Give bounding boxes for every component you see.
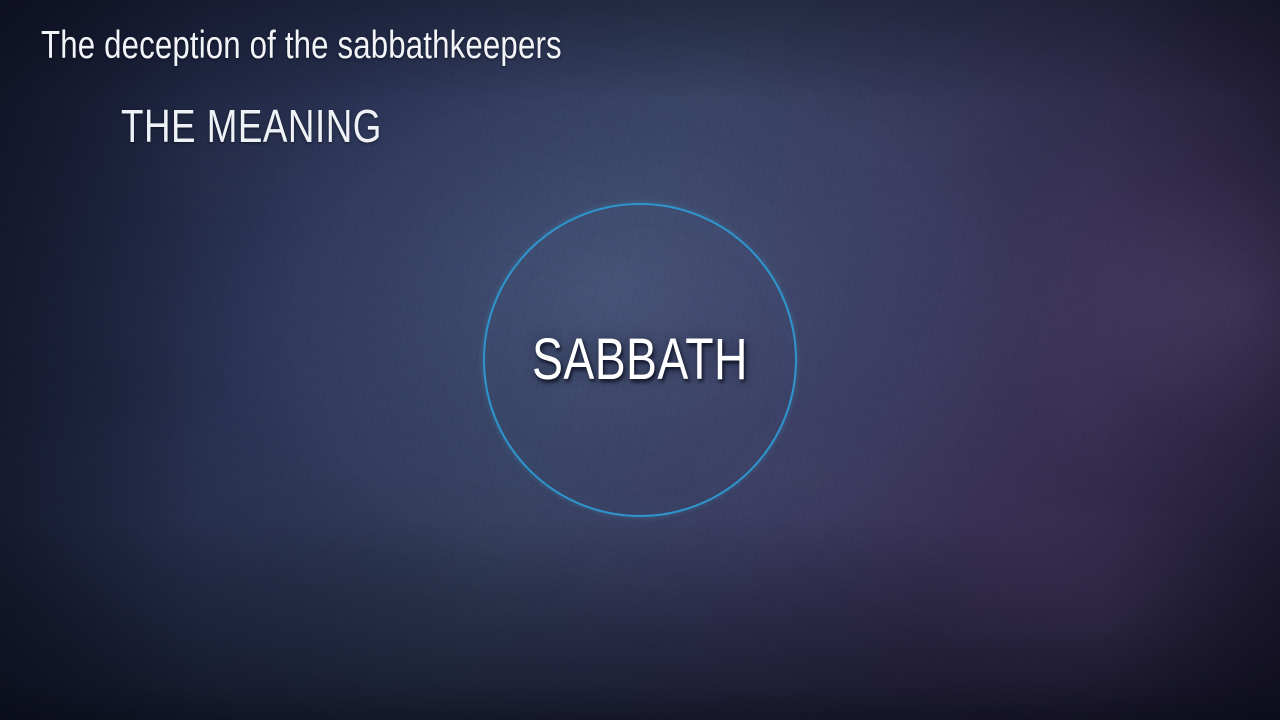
page-title: The deception of the sabbathkeepers (41, 23, 562, 69)
slide-subtitle: THE MEANING (121, 100, 382, 152)
circle-center-label: SABBATH (532, 331, 748, 389)
presentation-slide: The deception of the sabbathkeepers THE … (0, 0, 1280, 720)
sabbath-circle-diagram: SABBATH (483, 203, 797, 517)
circle-center-label-wrapper: SABBATH (483, 203, 797, 517)
